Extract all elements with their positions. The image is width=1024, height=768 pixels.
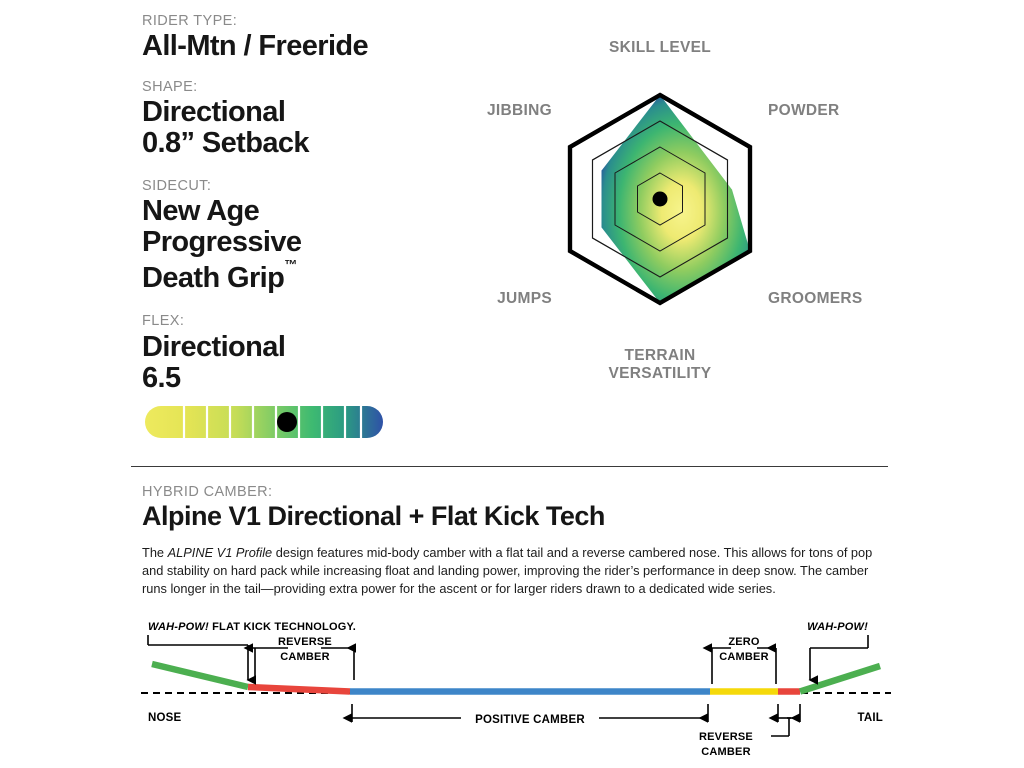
nose-reverse-camber-line2: CAMBER [280,651,329,663]
profile-nose-reverse-camber [248,687,350,692]
attribute-radar-chart: SKILL LEVEL POWDER GROOMERS TERRAIN VERS… [462,24,882,404]
radar-center-dot [653,192,668,207]
spec-value-rider-type: All-Mtn / Freeride [142,31,472,62]
spec-flex: FLEX: Directional 6.5 [142,312,472,393]
zero-camber-line2: CAMBER [719,651,768,663]
radar-label-terrain-versatility-line2: VERSATILITY [609,365,712,382]
zero-camber-line1: ZERO [728,636,760,648]
camber-description: The ALPINE V1 Profile design features mi… [142,544,877,598]
tail-reverse-camber-line1: REVERSE [699,731,753,743]
flex-scale-bar [144,405,384,439]
spec-sheet-page: RIDER TYPE: All-Mtn / Freeride SHAPE: Di… [0,0,1024,768]
nose-wahpow-label: WAH-POW! FLAT KICK TECHNOLOGY. [148,621,356,633]
spec-label-flex: FLEX: [142,312,472,330]
spec-label-rider-type: RIDER TYPE: [142,12,472,30]
radar-label-terrain-versatility-line1: TERRAIN [625,347,696,364]
radar-label-skill-level: SKILL LEVEL [609,39,711,56]
spec-label-shape: SHAPE: [142,78,472,96]
radar-label-powder: POWDER [768,102,840,119]
spec-value-sidecut-text: New Age Progressive Death Grip [142,195,301,294]
profile-nose-kick [152,664,248,687]
camber-desc-prefix: The [142,545,168,560]
camber-label: HYBRID CAMBER: [142,484,887,500]
spec-rider-type: RIDER TYPE: All-Mtn / Freeride [142,12,472,62]
board-profile-strip [152,664,880,692]
flex-scale-svg [144,405,384,439]
spec-column: RIDER TYPE: All-Mtn / Freeride SHAPE: Di… [142,12,472,410]
spec-sidecut: SIDECUT: New Age Progressive Death Grip™ [142,177,472,294]
tail-reverse-camber-bracket [771,704,800,736]
hybrid-camber-section: HYBRID CAMBER: Alpine V1 Directional + F… [142,484,887,598]
tail-end-label: TAIL [858,712,884,724]
radar-label-jumps: JUMPS [497,290,552,307]
tail-reverse-camber-line2: CAMBER [701,746,750,758]
camber-desc-italic: ALPINE V1 Profile [168,545,273,560]
trademark-symbol: ™ [284,257,297,272]
nose-wahpow-rest: FLAT KICK TECHNOLOGY. [209,621,356,633]
spec-value-shape: Directional 0.8” Setback [142,97,472,159]
camber-title: Alpine V1 Directional + Flat Kick Tech [142,502,887,532]
tail-wahpow-label: WAH-POW! [807,621,868,633]
radar-label-jibbing: JIBBING [487,102,552,119]
camber-profile-diagram: WAH-POW! FLAT KICK TECHNOLOGY. REVERSE C… [131,618,901,763]
radar-chart-svg: SKILL LEVEL POWDER GROOMERS TERRAIN VERS… [462,24,882,404]
nose-end-label: NOSE [148,712,182,724]
spec-label-sidecut: SIDECUT: [142,177,472,195]
spec-value-sidecut: New Age Progressive Death Grip™ [142,196,472,294]
tail-wahpow-italic: WAH-POW! [807,621,868,633]
radar-label-groomers: GROOMERS [768,290,863,307]
camber-diagram-svg: WAH-POW! FLAT KICK TECHNOLOGY. REVERSE C… [131,618,901,763]
spec-value-flex: Directional 6.5 [142,332,472,394]
section-divider [131,466,888,467]
flex-scale-fill [144,405,384,439]
nose-reverse-camber-line1: REVERSE [278,636,332,648]
profile-tail-kick [800,666,880,692]
flex-scale-marker-dot [277,412,297,432]
positive-camber-label: POSITIVE CAMBER [475,714,585,726]
nose-wahpow-italic: WAH-POW! [148,621,209,633]
spec-shape: SHAPE: Directional 0.8” Setback [142,78,472,159]
